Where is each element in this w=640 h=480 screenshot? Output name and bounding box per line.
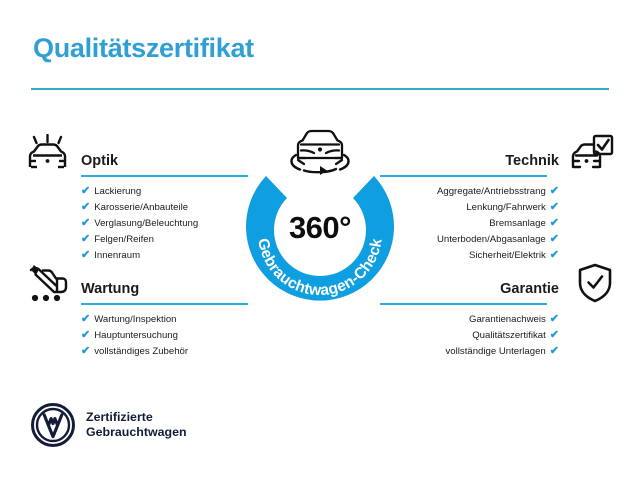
checklist-garantie: Garantienachweis✔ Qualitätszertifikat✔ v… <box>380 313 559 358</box>
section-accent-rule <box>380 175 547 177</box>
list-item: ✔Karosserie/Anbauteile <box>81 201 260 214</box>
car-checkbox-icon <box>569 134 615 176</box>
list-item-label: Sicherheit/Elektrik <box>469 249 546 262</box>
list-item: ✔vollständiges Zubehör <box>81 345 260 358</box>
list-item: ✔Wartung/Inspektion <box>81 313 260 326</box>
header-divider <box>31 88 609 90</box>
list-item-label: vollständiges Zubehör <box>94 345 188 358</box>
footer-line-1: Zertifizierte <box>86 410 187 425</box>
list-item-label: Hauptuntersuchung <box>94 329 178 342</box>
volkswagen-logo <box>31 403 75 447</box>
list-item-label: Garantienachweis <box>469 313 546 326</box>
section-title: Technik <box>505 154 559 169</box>
list-item: ✔Verglasung/Beleuchtung <box>81 217 260 230</box>
page-title: Qualitätszertifikat <box>33 33 254 64</box>
list-item: ✔Lackierung <box>81 185 260 198</box>
check-icon: ✔ <box>550 250 559 261</box>
shield-check-icon <box>575 262 615 304</box>
list-item: Unterboden/Abgasanlage✔ <box>380 233 559 246</box>
list-item-label: Lenkung/Fahrwerk <box>466 201 545 214</box>
check-icon: ✔ <box>81 218 90 229</box>
list-item: vollständige Unterlagen✔ <box>380 345 559 358</box>
check-icon: ✔ <box>81 234 90 245</box>
checklist-wartung: ✔Wartung/Inspektion ✔Hauptuntersuchung ✔… <box>81 313 260 358</box>
car-shine-icon <box>25 134 71 176</box>
section-technik: Technik Aggregate/Antriebsstrang✔ Lenkun… <box>380 134 615 262</box>
check-icon: ✔ <box>550 186 559 197</box>
section-title: Wartung <box>81 282 139 297</box>
list-item-label: Aggregate/Antriebsstrang <box>437 185 546 198</box>
check-icon: ✔ <box>550 202 559 213</box>
section-accent-rule <box>81 175 248 177</box>
footer-brand: Zertifizierte Gebrauchtwagen <box>31 403 187 447</box>
car-wrench-service-icon <box>25 262 71 304</box>
check-icon: ✔ <box>81 202 90 213</box>
footer-brand-text: Zertifizierte Gebrauchtwagen <box>86 410 187 440</box>
list-item-label: Lackierung <box>94 185 141 198</box>
checklist-optik: ✔Lackierung ✔Karosserie/Anbauteile ✔Verg… <box>81 185 260 262</box>
check-icon: ✔ <box>81 186 90 197</box>
list-item: Qualitätszertifikat✔ <box>380 329 559 342</box>
check-icon: ✔ <box>550 346 559 357</box>
check-icon: ✔ <box>550 218 559 229</box>
list-item-label: Qualitätszertifikat <box>472 329 546 342</box>
list-item-label: Wartung/Inspektion <box>94 313 176 326</box>
check-icon: ✔ <box>81 250 90 261</box>
list-item-label: vollständige Unterlagen <box>446 345 546 358</box>
check-icon: ✔ <box>81 330 90 341</box>
footer-line-2: Gebrauchtwagen <box>86 425 187 440</box>
section-accent-rule <box>81 303 248 305</box>
list-item-label: Bremsanlage <box>489 217 546 230</box>
list-item: ✔Felgen/Reifen <box>81 233 260 246</box>
list-item: Garantienachweis✔ <box>380 313 559 326</box>
section-title: Optik <box>81 154 118 169</box>
list-item-label: Unterboden/Abgasanlage <box>437 233 546 246</box>
list-item-label: Karosserie/Anbauteile <box>94 201 188 214</box>
list-item-label: Verglasung/Beleuchtung <box>94 217 198 230</box>
section-wartung: Wartung ✔Wartung/Inspektion ✔Hauptunters… <box>25 262 260 358</box>
certificate-page: Qualitätszertifikat <box>0 0 640 480</box>
section-accent-rule <box>380 303 547 305</box>
list-item: Lenkung/Fahrwerk✔ <box>380 201 559 214</box>
section-optik: Optik ✔Lackierung ✔Karosserie/Anbauteile… <box>25 134 260 262</box>
list-item-label: Felgen/Reifen <box>94 233 154 246</box>
check-icon: ✔ <box>81 314 90 325</box>
section-garantie: Garantie Garantienachweis✔ Qualitätszert… <box>380 262 615 358</box>
list-item: Aggregate/Antriebsstrang✔ <box>380 185 559 198</box>
list-item: ✔Hauptuntersuchung <box>81 329 260 342</box>
check-icon: ✔ <box>550 314 559 325</box>
badge-360-gebrauchtwagen-check: Gebrauchtwagen-Check <box>236 122 404 312</box>
check-icon: ✔ <box>550 234 559 245</box>
car-rotation-360-icon <box>280 122 360 178</box>
list-item: Bremsanlage✔ <box>380 217 559 230</box>
checklist-technik: Aggregate/Antriebsstrang✔ Lenkung/Fahrwe… <box>380 185 559 262</box>
list-item-label: Innenraum <box>94 249 140 262</box>
section-title: Garantie <box>500 282 559 297</box>
list-item: Sicherheit/Elektrik✔ <box>380 249 559 262</box>
check-icon: ✔ <box>550 330 559 341</box>
list-item: ✔Innenraum <box>81 249 260 262</box>
check-icon: ✔ <box>81 346 90 357</box>
badge-center-label: 360° <box>236 210 404 246</box>
